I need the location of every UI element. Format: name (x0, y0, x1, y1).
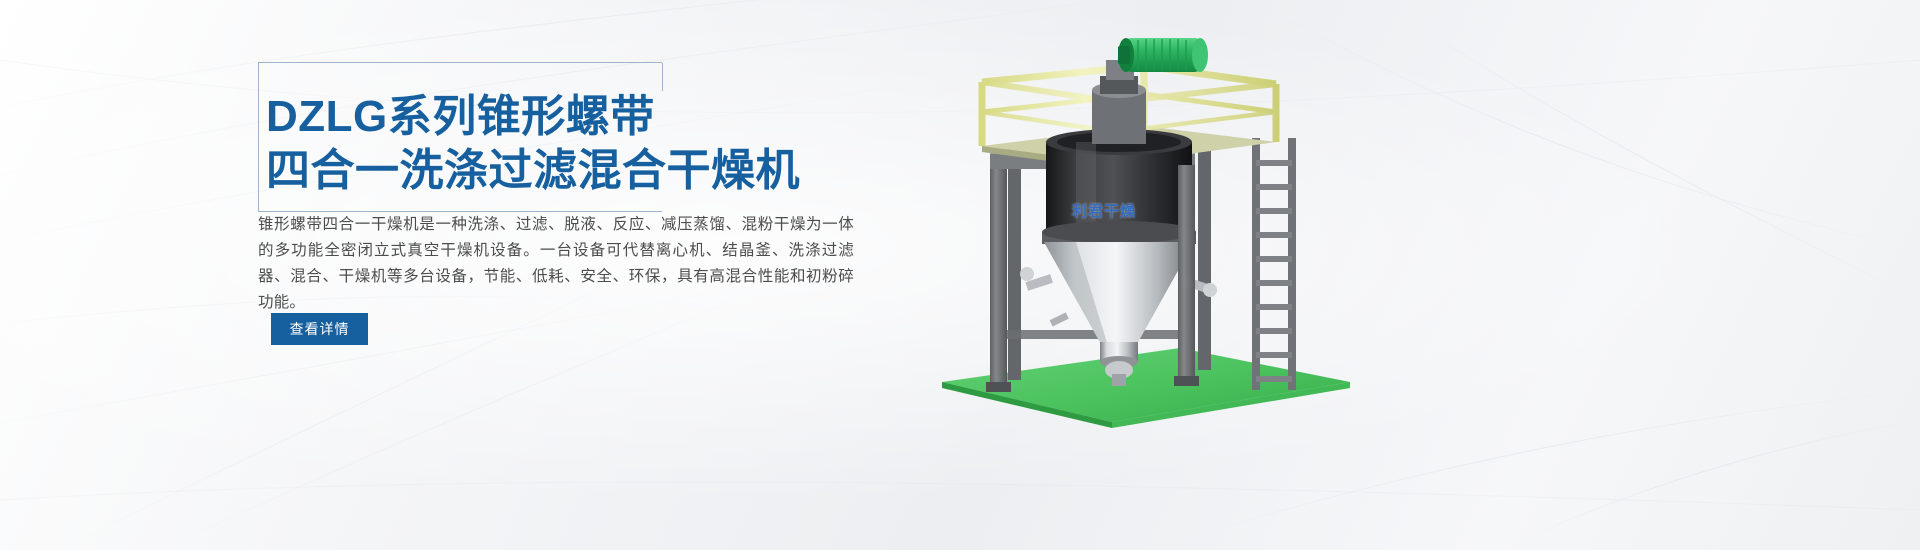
view-details-button[interactable]: 查看详情 (271, 313, 368, 345)
dryer-vessel (1042, 129, 1196, 386)
motor (1118, 38, 1208, 72)
headline-block: DZLG系列锥形螺带 四合一洗涤过滤混合干燥机 (258, 62, 878, 232)
title-line-1: DZLG系列锥形螺带 (266, 90, 800, 144)
product-description: 锥形螺带四合一干燥机是一种洗涤、过滤、脱液、反应、减压蒸馏、混粉干燥为一体的多功… (258, 212, 854, 316)
hero-banner: DZLG系列锥形螺带 四合一洗涤过滤混合干燥机 锥形螺带四合一干燥机是一种洗涤、… (0, 0, 1920, 550)
access-ladder (1252, 138, 1296, 390)
page-title: DZLG系列锥形螺带 四合一洗涤过滤混合干燥机 (266, 90, 800, 198)
product-illustration: 利君干燥 (930, 30, 1360, 430)
vessel-watermark: 利君干燥 (1072, 200, 1136, 221)
title-line-2: 四合一洗涤过滤混合干燥机 (266, 144, 800, 198)
